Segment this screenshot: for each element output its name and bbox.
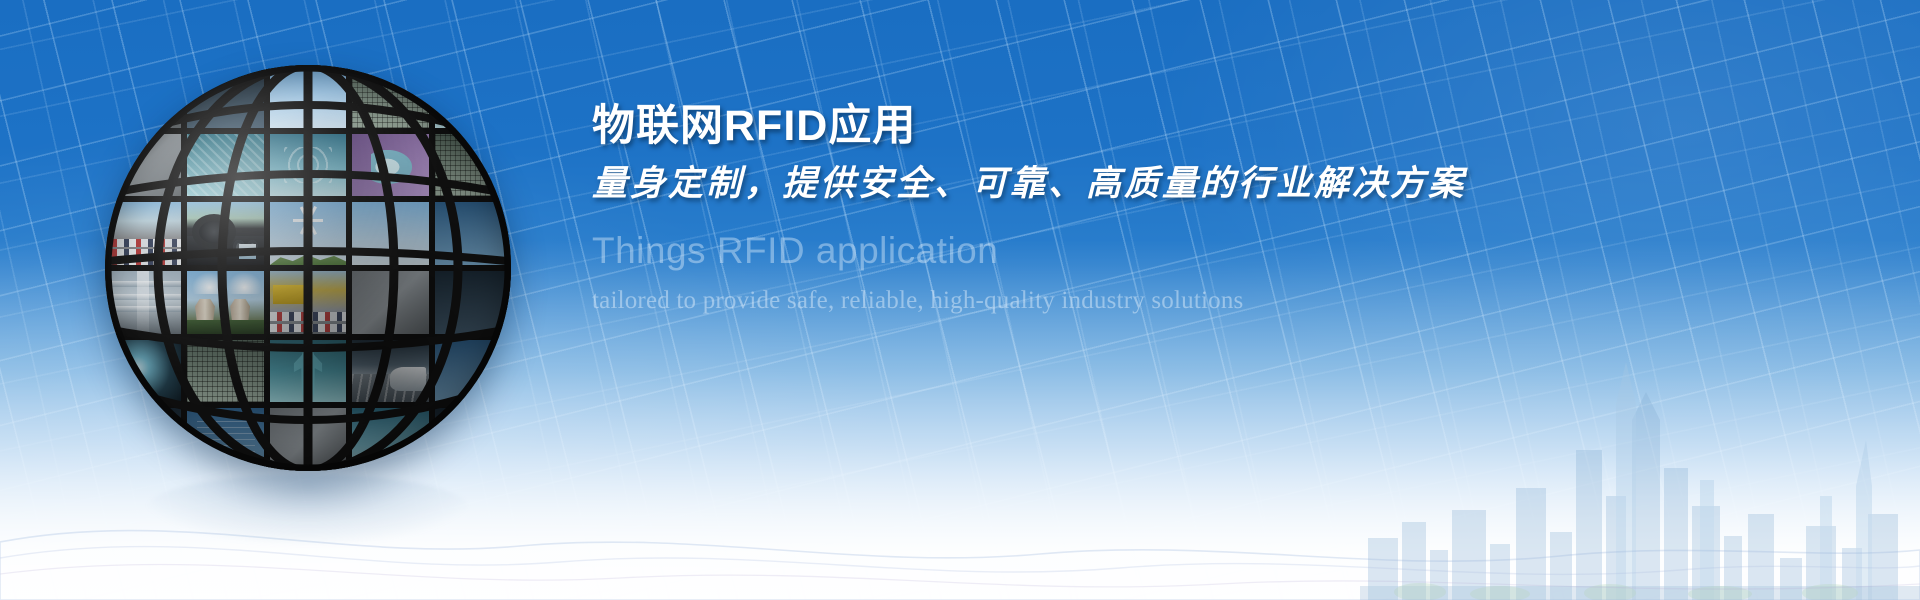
globe-tile-aisle-light [137,271,149,334]
globe-tile-medical-imaging [352,134,428,197]
globe-tile-data-grid [187,65,263,128]
globe-tile-steam [192,272,227,293]
globe-tile-traffic-cars [105,257,181,265]
globe-tile-cars [270,324,346,333]
globe-tile-industrial [352,271,428,334]
globe-tile-circuit-board [187,134,263,197]
globe-tile-car-interior [187,202,263,265]
globe-tile-blue-panel [435,202,511,265]
globe-tile-bus-traffic [270,271,346,334]
globe-tile-treeline [187,320,263,334]
globe-tile-fabric-texture [187,340,263,403]
globe-tile-mesh-texture [352,65,428,128]
globe-tile-traffic-cars [105,249,181,258]
banner-subheadline-zh: 量身定制，提供安全、可靠、高质量的行业解决方案 [592,161,1792,207]
banner-copy: 物联网RFID应用 量身定制，提供安全、可靠、高质量的行业解决方案 Things… [592,100,1792,317]
banner-headline-en: Things RFID application [592,229,1792,273]
globe-tile-lower-blue [187,408,263,471]
globe-tile-cooling-towers [187,271,263,334]
globe-tile-blue-data [435,340,511,403]
globe-tile-sky [270,65,346,128]
globe-tile-mosaic [105,65,511,471]
globe-tile-row [105,202,511,265]
globe-tile-optical-lens [105,340,181,403]
banner-headline-zh: 物联网RFID应用 [592,100,1792,152]
globe-tile-train-body [390,367,425,391]
globe-tile-row [105,408,511,471]
globe-tile-teal-panel [435,65,511,128]
globe-tile-dashboard-screen [239,244,256,259]
globe-graphic [100,60,520,540]
globe-tile-row [105,134,511,197]
globe-tile-dark-panel [435,271,511,334]
globe-tile-lower-gray [270,408,346,471]
globe-tile-scanlines [197,416,255,464]
globe-tile-row [105,271,511,334]
hero-banner: 物联网RFID应用 量身定制，提供安全、可靠、高质量的行业解决方案 Things… [0,0,1920,600]
globe-tile-lower-dark [105,408,181,471]
globe-tile-body-silhouette [293,347,324,395]
globe-tile-network [270,134,346,197]
globe-tile-fabric-mesh [105,65,181,128]
globe-tile-row [105,340,511,403]
banner-subheadline-en: tailored to provide safe, reliable, high… [592,285,1792,316]
globe-tile-wind-turbine [270,202,346,265]
globe-tile-network-pattern [284,147,333,182]
globe-sphere [105,65,511,471]
globe-reflection [146,474,470,544]
globe-tile-city-traffic [105,202,181,265]
globe-tile-steering-wheel [192,214,236,250]
globe-tile-lower-dark-2 [435,408,511,471]
globe-tile-high-speed-train [352,340,428,403]
globe-tile-traffic-cars [105,239,181,248]
globe-tile-bus [273,285,305,304]
globe-tile-body-scan [270,340,346,403]
globe-tile-steam [227,272,262,293]
globe-tile-weave [435,134,511,197]
globe-tile-cars [270,312,346,321]
globe-tile-metal [105,134,181,197]
globe-tile-sky-clouds [352,202,428,265]
globe-tile-lower-teal [352,408,428,471]
globe-tile-medical-shape [371,150,412,184]
globe-tile-row [105,65,511,128]
globe-tile-turbine-mast [308,226,311,265]
city-skyline-decoration [1360,300,1920,600]
globe-tile-warehouse-aisle [105,271,181,334]
